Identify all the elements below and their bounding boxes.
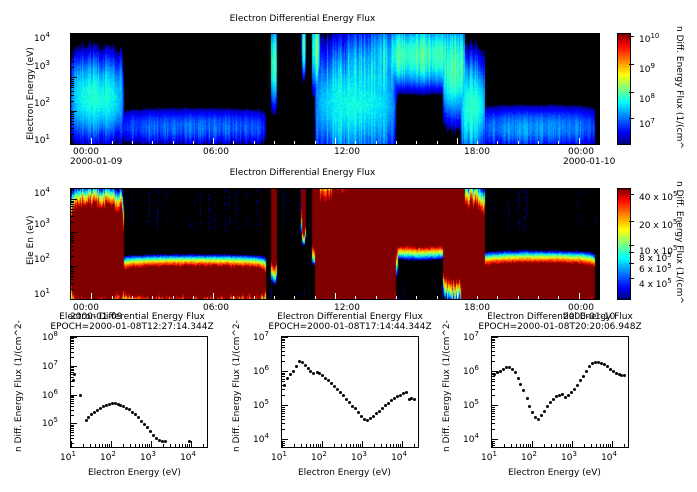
x-tick [538, 296, 539, 299]
y-tick [71, 118, 74, 119]
y-tick [71, 432, 74, 433]
cbar-top-tick-10e10: 1010 [639, 32, 659, 45]
y-tick [71, 95, 74, 96]
y-tick [282, 445, 285, 446]
y-tick [282, 340, 285, 341]
x-tick [213, 138, 214, 144]
y-tick [282, 381, 285, 382]
y-tick [71, 222, 74, 223]
x-tick [193, 296, 194, 299]
x-tick [315, 296, 316, 299]
y-tick [282, 379, 285, 380]
x-tick [193, 141, 194, 144]
y-tick [492, 413, 495, 414]
x-tick [254, 296, 255, 299]
y-tick [282, 376, 285, 377]
xtick-1200: 12:00 [334, 147, 360, 157]
y-tick [282, 429, 285, 430]
y-tick-label: 107 [42, 359, 58, 372]
x-tick-label: 101 [481, 450, 497, 463]
y-tick [492, 439, 498, 440]
x-tick-label: 103 [140, 450, 156, 463]
x-tick [142, 444, 143, 447]
x-tick [233, 296, 234, 299]
data-point [304, 364, 307, 367]
x-tick [315, 141, 316, 144]
y-tick [71, 289, 74, 290]
x-tick [147, 444, 148, 447]
x-tick [294, 296, 295, 299]
x-tick [518, 296, 519, 299]
data-point [405, 391, 408, 394]
cbar-bot-tick-40e5: 40 x 105 [639, 190, 677, 203]
x-tick-label: 102 [100, 450, 116, 463]
x-tick [91, 138, 92, 144]
y-tick [71, 337, 77, 338]
data-point [378, 410, 381, 413]
y-tick [71, 91, 74, 92]
y-tick [71, 396, 74, 397]
data-point [570, 391, 573, 394]
x-tick [504, 444, 505, 447]
x-tick [396, 444, 397, 447]
y-tick-label: 105 [463, 398, 479, 411]
x-tick [538, 141, 539, 144]
x-tick [523, 444, 524, 447]
xtick-date-end: 2000-01-10 [563, 157, 615, 167]
y-tick [492, 361, 495, 362]
x-tick [233, 141, 234, 144]
data-point [137, 416, 140, 419]
data-point [372, 415, 375, 418]
x-tick [544, 444, 545, 447]
x-tick [560, 444, 561, 447]
y-tick [71, 397, 74, 398]
y-tick [282, 337, 288, 338]
y-tick [71, 51, 74, 52]
data-point [573, 388, 576, 391]
y-tick [71, 111, 77, 112]
data-point [164, 440, 167, 443]
x-tick [516, 444, 517, 447]
y-tick [71, 212, 74, 213]
x-tick [151, 441, 152, 447]
y-tick [71, 144, 77, 145]
spectrum-1-ylabel: n Diff. Energy Flux (1/(cm^2- [14, 320, 24, 452]
y-tick [492, 347, 495, 348]
x-tick [132, 141, 133, 144]
y-tick [71, 242, 74, 243]
x-tick-label: 103 [561, 450, 577, 463]
y-tick [71, 209, 74, 210]
y-tick [71, 341, 74, 342]
data-point [576, 384, 579, 387]
spectrogram-bottom-plot-area [70, 188, 600, 300]
y-tick [71, 54, 74, 55]
y-tick-label: 106 [463, 364, 479, 377]
x-tick [203, 444, 204, 447]
data-point [375, 412, 378, 415]
y-tick [71, 238, 74, 239]
x-tick [356, 444, 357, 447]
colorbar-tick [629, 118, 634, 119]
y-tick [71, 202, 74, 203]
x-tick-label: 103 [351, 450, 367, 463]
x-tick [376, 141, 377, 144]
data-point [85, 419, 88, 422]
y-tick [71, 340, 74, 341]
y-tick [71, 343, 74, 344]
x-tick [313, 444, 314, 447]
y-tick [71, 49, 74, 50]
y-tick [71, 271, 74, 272]
x-tick [334, 444, 335, 447]
y-tick-label: 107 [253, 330, 269, 343]
y-tick [71, 116, 74, 117]
y-tick [282, 439, 288, 440]
x-tick [112, 296, 113, 299]
x-tick-label: 102 [521, 450, 537, 463]
colorbar-tick [629, 92, 634, 93]
y-tick [282, 361, 285, 362]
xtick-1800: 18:00 [464, 147, 490, 157]
y-tick [71, 77, 77, 78]
spectrum-1-plot-area [70, 336, 208, 448]
y-tick [71, 128, 74, 129]
y-tick [71, 199, 77, 200]
data-point [552, 398, 555, 401]
data-point [295, 365, 298, 368]
spectrum-2-plot-area [281, 336, 419, 448]
data-point [301, 361, 304, 364]
xtick-0600: 06:00 [203, 147, 229, 157]
xtick-0000-a: 00:00 [73, 147, 99, 157]
x-tick [179, 444, 180, 447]
x-tick [294, 141, 295, 144]
x-tick [386, 444, 387, 447]
data-point [522, 389, 525, 392]
x-tick [511, 444, 512, 447]
y-tick [282, 395, 285, 396]
x-tick [149, 444, 150, 447]
data-point [369, 417, 372, 420]
y-tick [71, 114, 74, 115]
colorbar-top [617, 33, 631, 145]
y-tick [71, 189, 74, 190]
x-tick [306, 444, 307, 447]
y-tick [71, 269, 74, 270]
x-tick [558, 141, 559, 144]
y-tick [71, 67, 74, 68]
spectrum-2-ylabel: n Diff. Energy Flux (1/(cm^2- [232, 320, 242, 452]
data-point [526, 397, 529, 400]
x-tick [591, 444, 592, 447]
x-tick [376, 296, 377, 299]
cbar-bot-tick-4e5: 4 x 105 [639, 277, 672, 290]
y-tick [71, 47, 74, 48]
x-tick [135, 444, 136, 447]
y-tick [71, 381, 74, 382]
y-tick [282, 374, 285, 375]
x-tick [606, 444, 607, 447]
y-tick [71, 85, 74, 86]
y-tick [492, 416, 495, 417]
data-point [531, 411, 534, 414]
x-tick [95, 444, 96, 447]
y-tick [71, 443, 74, 444]
x-tick [532, 441, 533, 447]
x-tick [570, 444, 571, 447]
y-tick [492, 447, 495, 448]
y-tick [71, 425, 74, 426]
spectrogram-bottom-title: Electron Differential Energy Flux [0, 168, 605, 179]
ytick2-10e1: 101 [34, 287, 50, 300]
x-tick [579, 293, 580, 299]
x-tick [396, 296, 397, 299]
y-tick [71, 415, 74, 416]
y-tick [71, 367, 74, 368]
y-tick [71, 124, 74, 125]
y-tick [71, 410, 74, 411]
data-point [585, 370, 588, 373]
data-point [342, 394, 345, 397]
x-tick [416, 296, 417, 299]
x-tick [294, 444, 295, 447]
data-point [549, 401, 552, 404]
y-tick [71, 206, 74, 207]
x-tick [173, 141, 174, 144]
y-tick [492, 419, 495, 420]
data-point [623, 374, 626, 377]
cbar-top-tick-10e9: 109 [639, 62, 655, 75]
data-point [357, 411, 360, 414]
x-tick-label: 101 [60, 450, 76, 463]
x-tick [393, 444, 394, 447]
x-tick [102, 444, 103, 447]
y-tick [71, 438, 74, 439]
cbar-top-tick-10e8: 108 [639, 92, 655, 105]
x-tick [477, 296, 478, 299]
data-point [348, 401, 351, 404]
x-tick [416, 141, 417, 144]
cbar-bot-tick-6e5: 6 x 105 [639, 262, 672, 275]
y-tick-label: 104 [253, 432, 269, 445]
y-tick [492, 409, 495, 410]
x-tick [396, 141, 397, 144]
data-point [567, 394, 570, 397]
data-point [393, 397, 396, 400]
data-point [384, 404, 387, 407]
x-tick [398, 444, 399, 447]
spectrum-3-plot-area [491, 336, 629, 448]
x-tick [310, 444, 311, 447]
y-tick [71, 266, 77, 267]
x-tick [528, 444, 529, 447]
colorbar-tick [629, 36, 634, 37]
y-tick [71, 234, 74, 235]
ytick-10e3: 103 [34, 59, 50, 72]
x-tick [191, 441, 192, 447]
x-tick [414, 444, 415, 447]
colorbar-tick [629, 278, 634, 279]
y-tick [71, 423, 77, 424]
y-tick [282, 385, 285, 386]
x-tick [107, 444, 108, 447]
x-tick [355, 141, 356, 144]
x-tick [437, 296, 438, 299]
y-tick [71, 406, 74, 407]
x-tick [316, 444, 317, 447]
colorbar-tick [629, 252, 634, 253]
y-tick [282, 447, 285, 448]
x-tick [596, 444, 597, 447]
y-tick [282, 409, 285, 410]
y-tick [71, 426, 74, 427]
colorbar-bottom-label: n Diff. Energy Flux (1/(cm^ [674, 181, 684, 304]
y-tick [71, 430, 74, 431]
y-tick [71, 79, 74, 80]
y-tick [492, 407, 495, 408]
data-point [79, 394, 82, 397]
x-tick [132, 296, 133, 299]
y-tick [71, 246, 74, 247]
x-tick [381, 444, 382, 447]
y-tick [71, 386, 74, 387]
x-tick [558, 296, 559, 299]
x-tick [123, 444, 124, 447]
x-tick [130, 444, 131, 447]
x-tick [556, 444, 557, 447]
x-tick [254, 141, 255, 144]
y-tick [282, 416, 285, 417]
x-tick [358, 444, 359, 447]
data-point [546, 405, 549, 408]
y-tick [282, 423, 285, 424]
y-tick [492, 395, 495, 396]
ytick2-10e2: 102 [34, 252, 50, 265]
x-tick [274, 141, 275, 144]
x-tick [402, 441, 403, 447]
y-tick [492, 337, 498, 338]
y-tick [71, 377, 74, 378]
x-tick [563, 444, 564, 447]
y-tick [71, 372, 74, 373]
y-tick [492, 342, 495, 343]
x-tick [579, 138, 580, 144]
y-tick [71, 256, 74, 257]
x-tick [374, 444, 375, 447]
data-point [514, 371, 517, 374]
data-point [292, 370, 295, 373]
y-tick [71, 87, 74, 88]
x-tick [112, 141, 113, 144]
y-tick [71, 357, 74, 358]
y-tick [71, 369, 74, 370]
x-tick [437, 141, 438, 144]
x-tick [390, 444, 391, 447]
y-tick [492, 371, 498, 372]
colorbar-tick [629, 245, 634, 246]
x-tick [322, 441, 323, 447]
y-tick [71, 46, 74, 47]
x-tick [187, 444, 188, 447]
x-tick [497, 296, 498, 299]
ytick2-10e3: 103 [34, 217, 50, 230]
y-tick [282, 405, 288, 406]
x-tick [91, 293, 92, 299]
y-tick [71, 57, 74, 58]
data-point [99, 407, 102, 410]
x-tick [551, 444, 552, 447]
data-point [381, 407, 384, 410]
x-tick-label: 102 [311, 450, 327, 463]
y-tick [492, 389, 495, 390]
y-tick [492, 443, 495, 444]
y-tick [71, 401, 74, 402]
xtick-date-start: 2000-01-09 [70, 157, 122, 167]
colorbar-tick [629, 263, 634, 264]
data-point [289, 373, 292, 376]
colorbar-tick [629, 64, 634, 65]
x-tick-label: 104 [180, 450, 196, 463]
y-tick-label: 105 [253, 398, 269, 411]
x-tick [353, 444, 354, 447]
y-tick [71, 428, 74, 429]
cbar-bot-tick-20e5: 20 x 105 [639, 218, 677, 231]
x-tick [152, 141, 153, 144]
x-tick [83, 444, 84, 447]
x-tick [90, 444, 91, 447]
x-tick-label: 104 [391, 450, 407, 463]
x-tick [185, 444, 186, 447]
x-tick [182, 444, 183, 447]
x-tick [173, 296, 174, 299]
y-tick [71, 216, 74, 217]
y-tick [282, 339, 285, 340]
y-tick [71, 399, 74, 400]
y-tick [492, 441, 495, 442]
y-tick [282, 351, 285, 352]
y-tick [71, 374, 74, 375]
x-tick-label: 101 [271, 450, 287, 463]
y-tick [71, 101, 74, 102]
cbar-top-tick-10e7: 107 [639, 117, 655, 130]
x-tick [145, 444, 146, 447]
data-point [528, 405, 531, 408]
x-tick [111, 441, 112, 447]
spectrum-2-xlabel: Electron Energy (eV) [298, 468, 391, 478]
x-tick [457, 293, 458, 299]
x-tick [341, 444, 342, 447]
colorbar-top-label: n Diff. Energy Flux (1/(cm^ [674, 26, 684, 149]
data-point [543, 410, 546, 413]
y-tick [71, 61, 74, 62]
y-tick [282, 355, 285, 356]
y-tick [71, 366, 77, 367]
y-tick [71, 273, 74, 274]
x-tick [152, 296, 153, 299]
y-tick [492, 381, 495, 382]
y-tick [282, 407, 285, 408]
y-tick [492, 339, 495, 340]
x-tick [360, 444, 361, 447]
x-tick [568, 444, 569, 447]
x-tick [584, 444, 585, 447]
data-point [360, 415, 363, 418]
data-point [537, 418, 540, 421]
y-tick [492, 445, 495, 446]
data-point [517, 377, 520, 380]
